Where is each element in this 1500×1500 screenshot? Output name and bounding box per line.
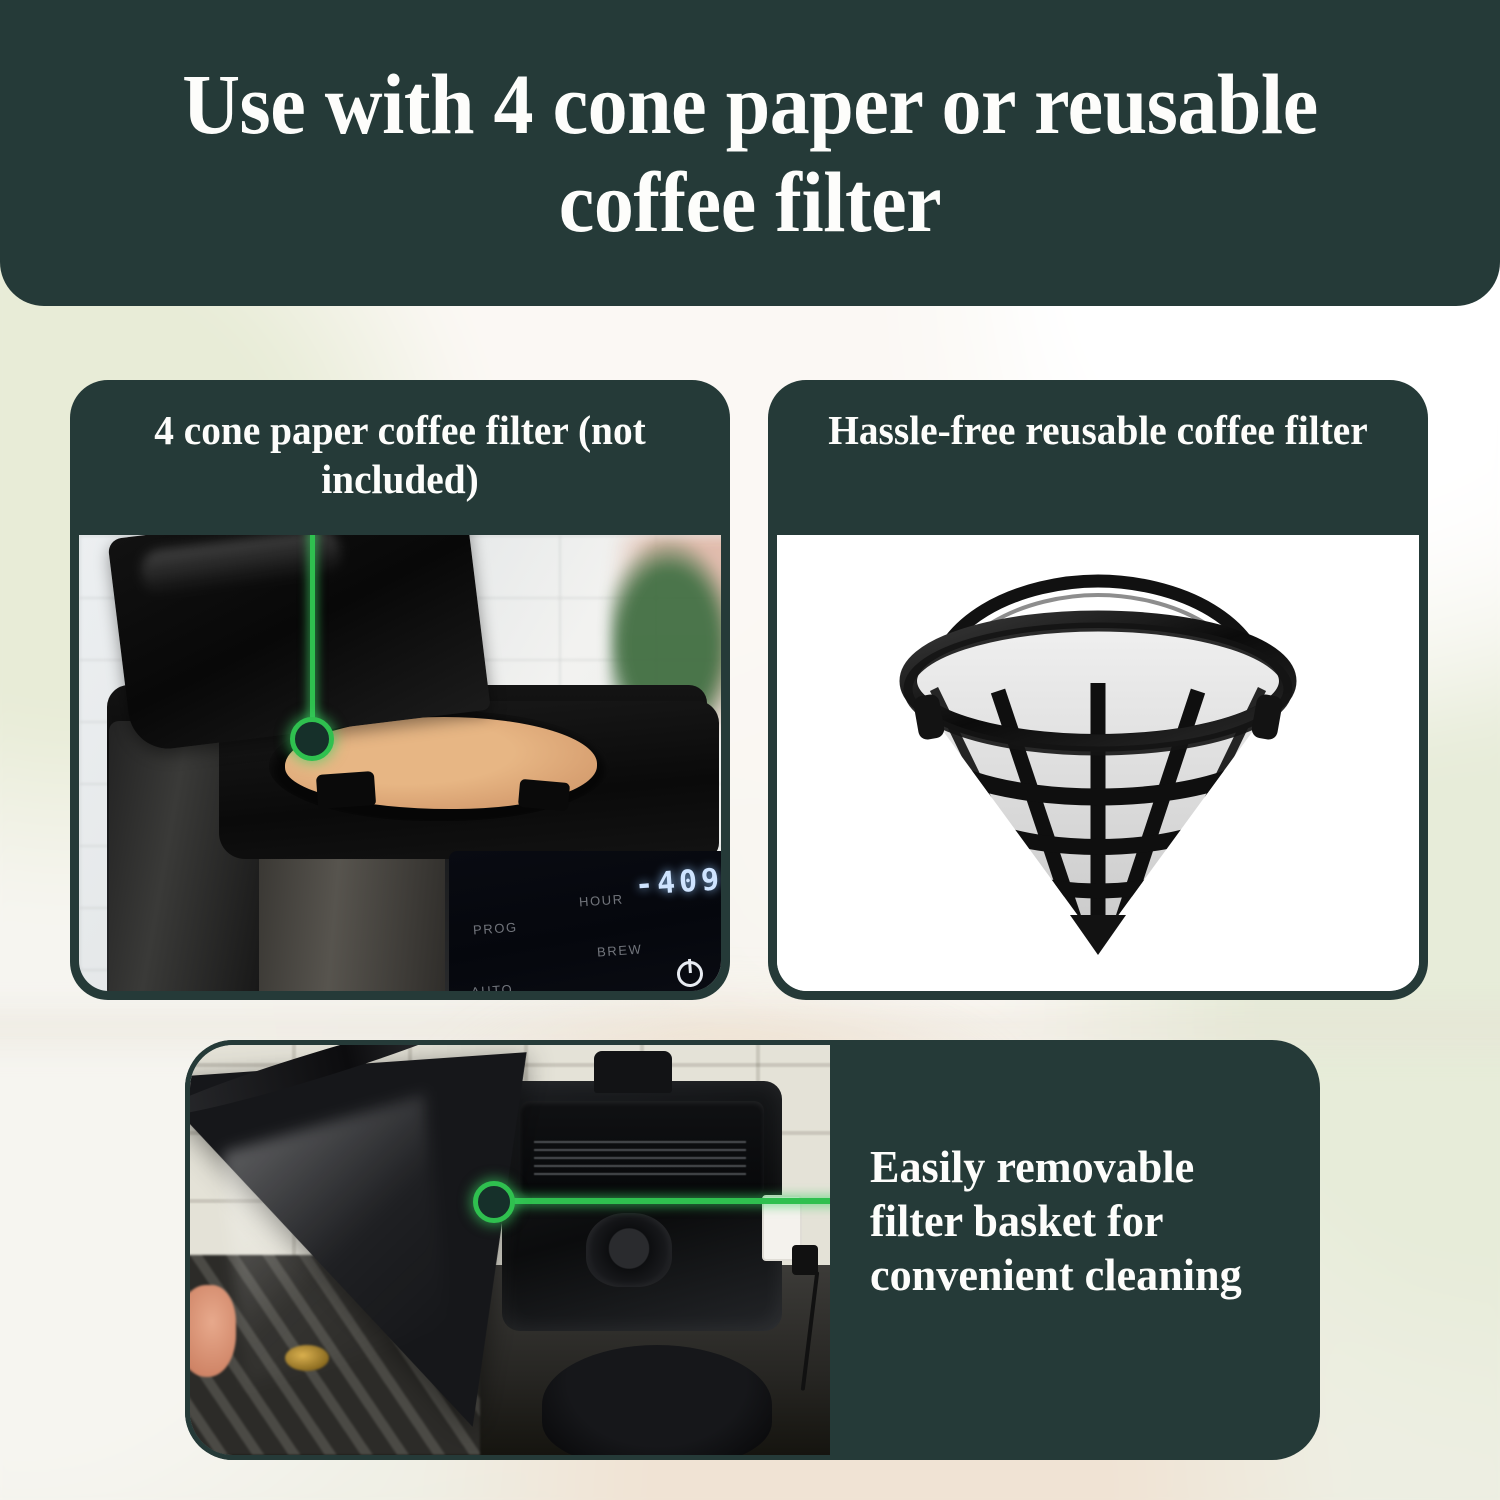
card-reusable-filter: Hassle-free reusable coffee filter: [768, 380, 1428, 1000]
infographic-page: Use with 4 cone paper or reusable coffee…: [0, 0, 1500, 1500]
filter-notch-left: [316, 771, 376, 809]
prog-label: PROG: [473, 919, 519, 937]
clock-display: -409: [634, 862, 721, 903]
lid-tab: [594, 1051, 672, 1093]
lid-warning-text: [534, 1137, 746, 1175]
control-panel: -409 HOUR PROG BREW AUTO: [449, 851, 721, 991]
card-paper-filter: 4 cone paper coffee filter (not included…: [70, 380, 730, 1000]
card-reusable-filter-title: Hassle-free reusable coffee filter: [781, 380, 1415, 471]
removable-basket-image: [190, 1045, 830, 1455]
callout-dot-bottom: [473, 1181, 515, 1223]
filter-notch-right: [518, 779, 570, 811]
hour-label: HOUR: [579, 891, 625, 909]
coffee-maker-paper-filter-image: -409 HOUR PROG BREW AUTO: [79, 535, 721, 991]
card-reusable-filter-photo: [777, 535, 1419, 991]
auto-label: AUTO: [471, 982, 514, 991]
power-plug: [792, 1245, 818, 1275]
brew-label: BREW: [597, 941, 643, 959]
callout-line-vertical: [310, 535, 315, 735]
removable-basket-photo: [185, 1040, 830, 1460]
card-paper-filter-photo: -409 HOUR PROG BREW AUTO: [79, 535, 721, 991]
power-icon: [676, 960, 704, 988]
header-banner: Use with 4 cone paper or reusable coffee…: [0, 0, 1500, 306]
shower-head-assembly: [586, 1213, 672, 1287]
reusable-filter-basket-icon: [838, 563, 1358, 963]
callout-line-horizontal: [492, 1198, 830, 1204]
reusable-basket-image: [777, 535, 1419, 991]
bottom-caption: Easily removable filter basket for conve…: [870, 1140, 1273, 1301]
card-paper-filter-title: 4 cone paper coffee filter (not included…: [83, 380, 717, 520]
callout-dot: [290, 717, 334, 761]
empty-basket-cavity: [542, 1345, 772, 1455]
page-title: Use with 4 cone paper or reusable coffee…: [53, 55, 1448, 251]
